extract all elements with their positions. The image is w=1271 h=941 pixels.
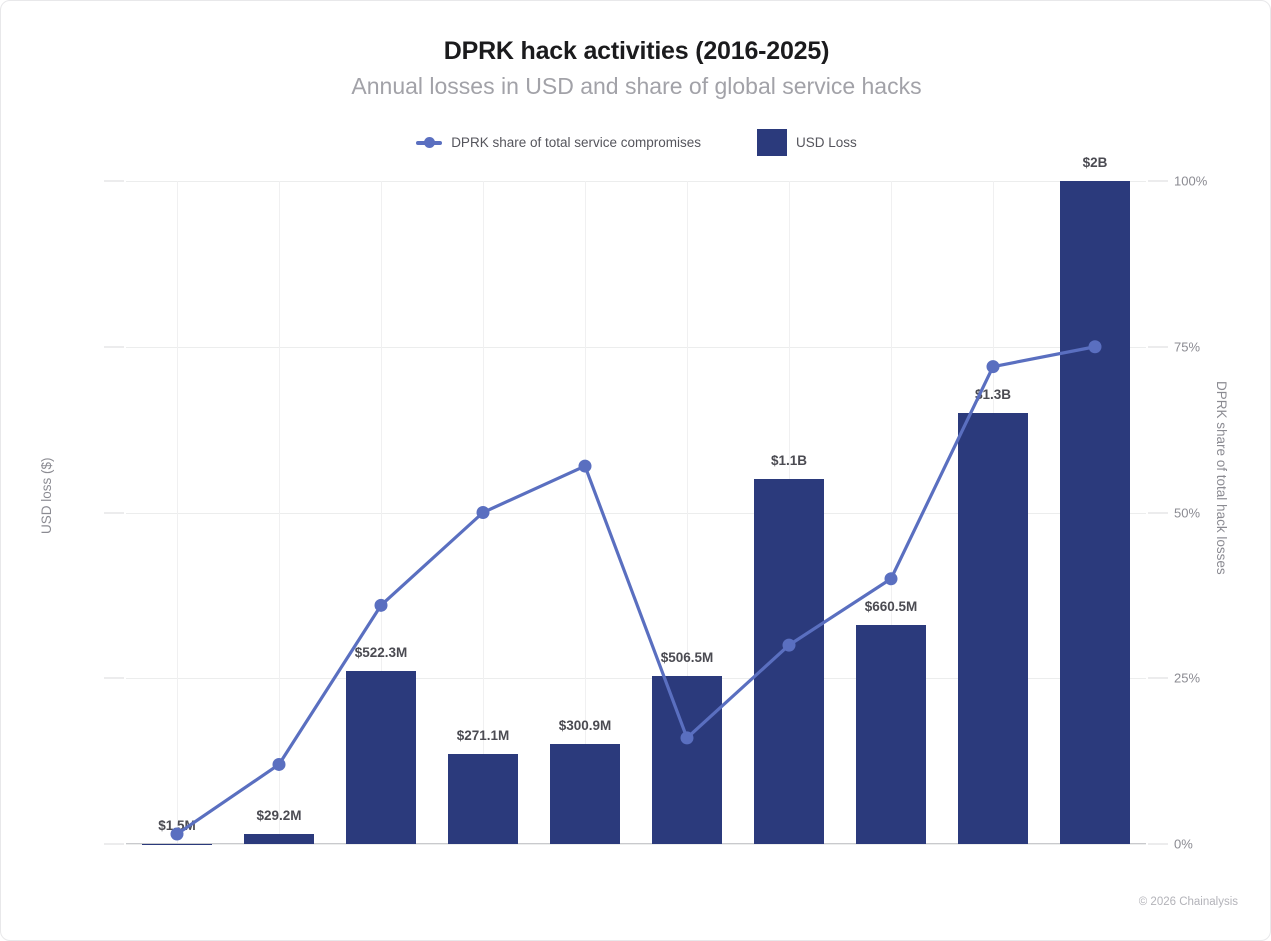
line-marker-2022[interactable] <box>783 639 796 652</box>
y-tick-mark-right <box>1148 844 1168 845</box>
y-tick-mark-right <box>1148 512 1168 513</box>
legend-label-bar: USD Loss <box>796 135 857 150</box>
line-marker-2021[interactable] <box>681 731 694 744</box>
y-tick-mark-left <box>104 181 124 182</box>
line-marker-2025[interactable] <box>1089 340 1102 353</box>
y-tick-mark-right <box>1148 181 1168 182</box>
gridline <box>126 844 1146 845</box>
y-tick-mark-right <box>1148 678 1168 679</box>
line-series <box>126 181 1146 844</box>
line-marker-2018[interactable] <box>375 599 388 612</box>
legend-item-line[interactable]: DPRK share of total service compromises <box>416 135 701 150</box>
y-tick-mark-left <box>104 678 124 679</box>
line-marker-icon <box>416 141 442 145</box>
y-tick-label-right: 100% <box>1174 174 1207 189</box>
bar-swatch-icon <box>757 129 787 156</box>
plot-area: $0.00B$0.50B$1.00B$1.50B$2.00B 0%25%50%7… <box>126 181 1146 844</box>
y-tick-mark-right <box>1148 346 1168 347</box>
y-tick-label-right: 25% <box>1174 671 1200 686</box>
chart-card: DPRK hack activities (2016-2025) Annual … <box>0 0 1271 941</box>
y-tick-label-right: 0% <box>1174 837 1193 852</box>
y-tick-label-right: 50% <box>1174 505 1200 520</box>
line-marker-2016[interactable] <box>171 828 184 841</box>
line-marker-2024[interactable] <box>987 360 1000 373</box>
chart-title: DPRK hack activities (2016-2025) <box>1 37 1271 66</box>
legend-label-line: DPRK share of total service compromises <box>451 135 701 150</box>
y-tick-mark-left <box>104 844 124 845</box>
line-marker-2020[interactable] <box>579 460 592 473</box>
y-axis-label-right: DPRK share of total hack losses <box>1214 381 1229 575</box>
y-tick-mark-left <box>104 512 124 513</box>
chart-subtitle: Annual losses in USD and share of global… <box>1 73 1271 100</box>
y-tick-label-right: 75% <box>1174 339 1200 354</box>
line-marker-2023[interactable] <box>885 572 898 585</box>
line-marker-2019[interactable] <box>477 506 490 519</box>
line-marker-2017[interactable] <box>273 758 286 771</box>
bar-value-label-2025: $2B <box>1020 155 1170 170</box>
line-path <box>177 347 1095 834</box>
y-tick-mark-left <box>104 346 124 347</box>
y-axis-label-left: USD loss ($) <box>39 457 54 534</box>
legend-item-bar[interactable]: USD Loss <box>757 129 857 156</box>
chart-legend: DPRK share of total service compromises … <box>1 129 1271 156</box>
footer-attribution: © 2026 Chainalysis <box>1139 896 1238 908</box>
